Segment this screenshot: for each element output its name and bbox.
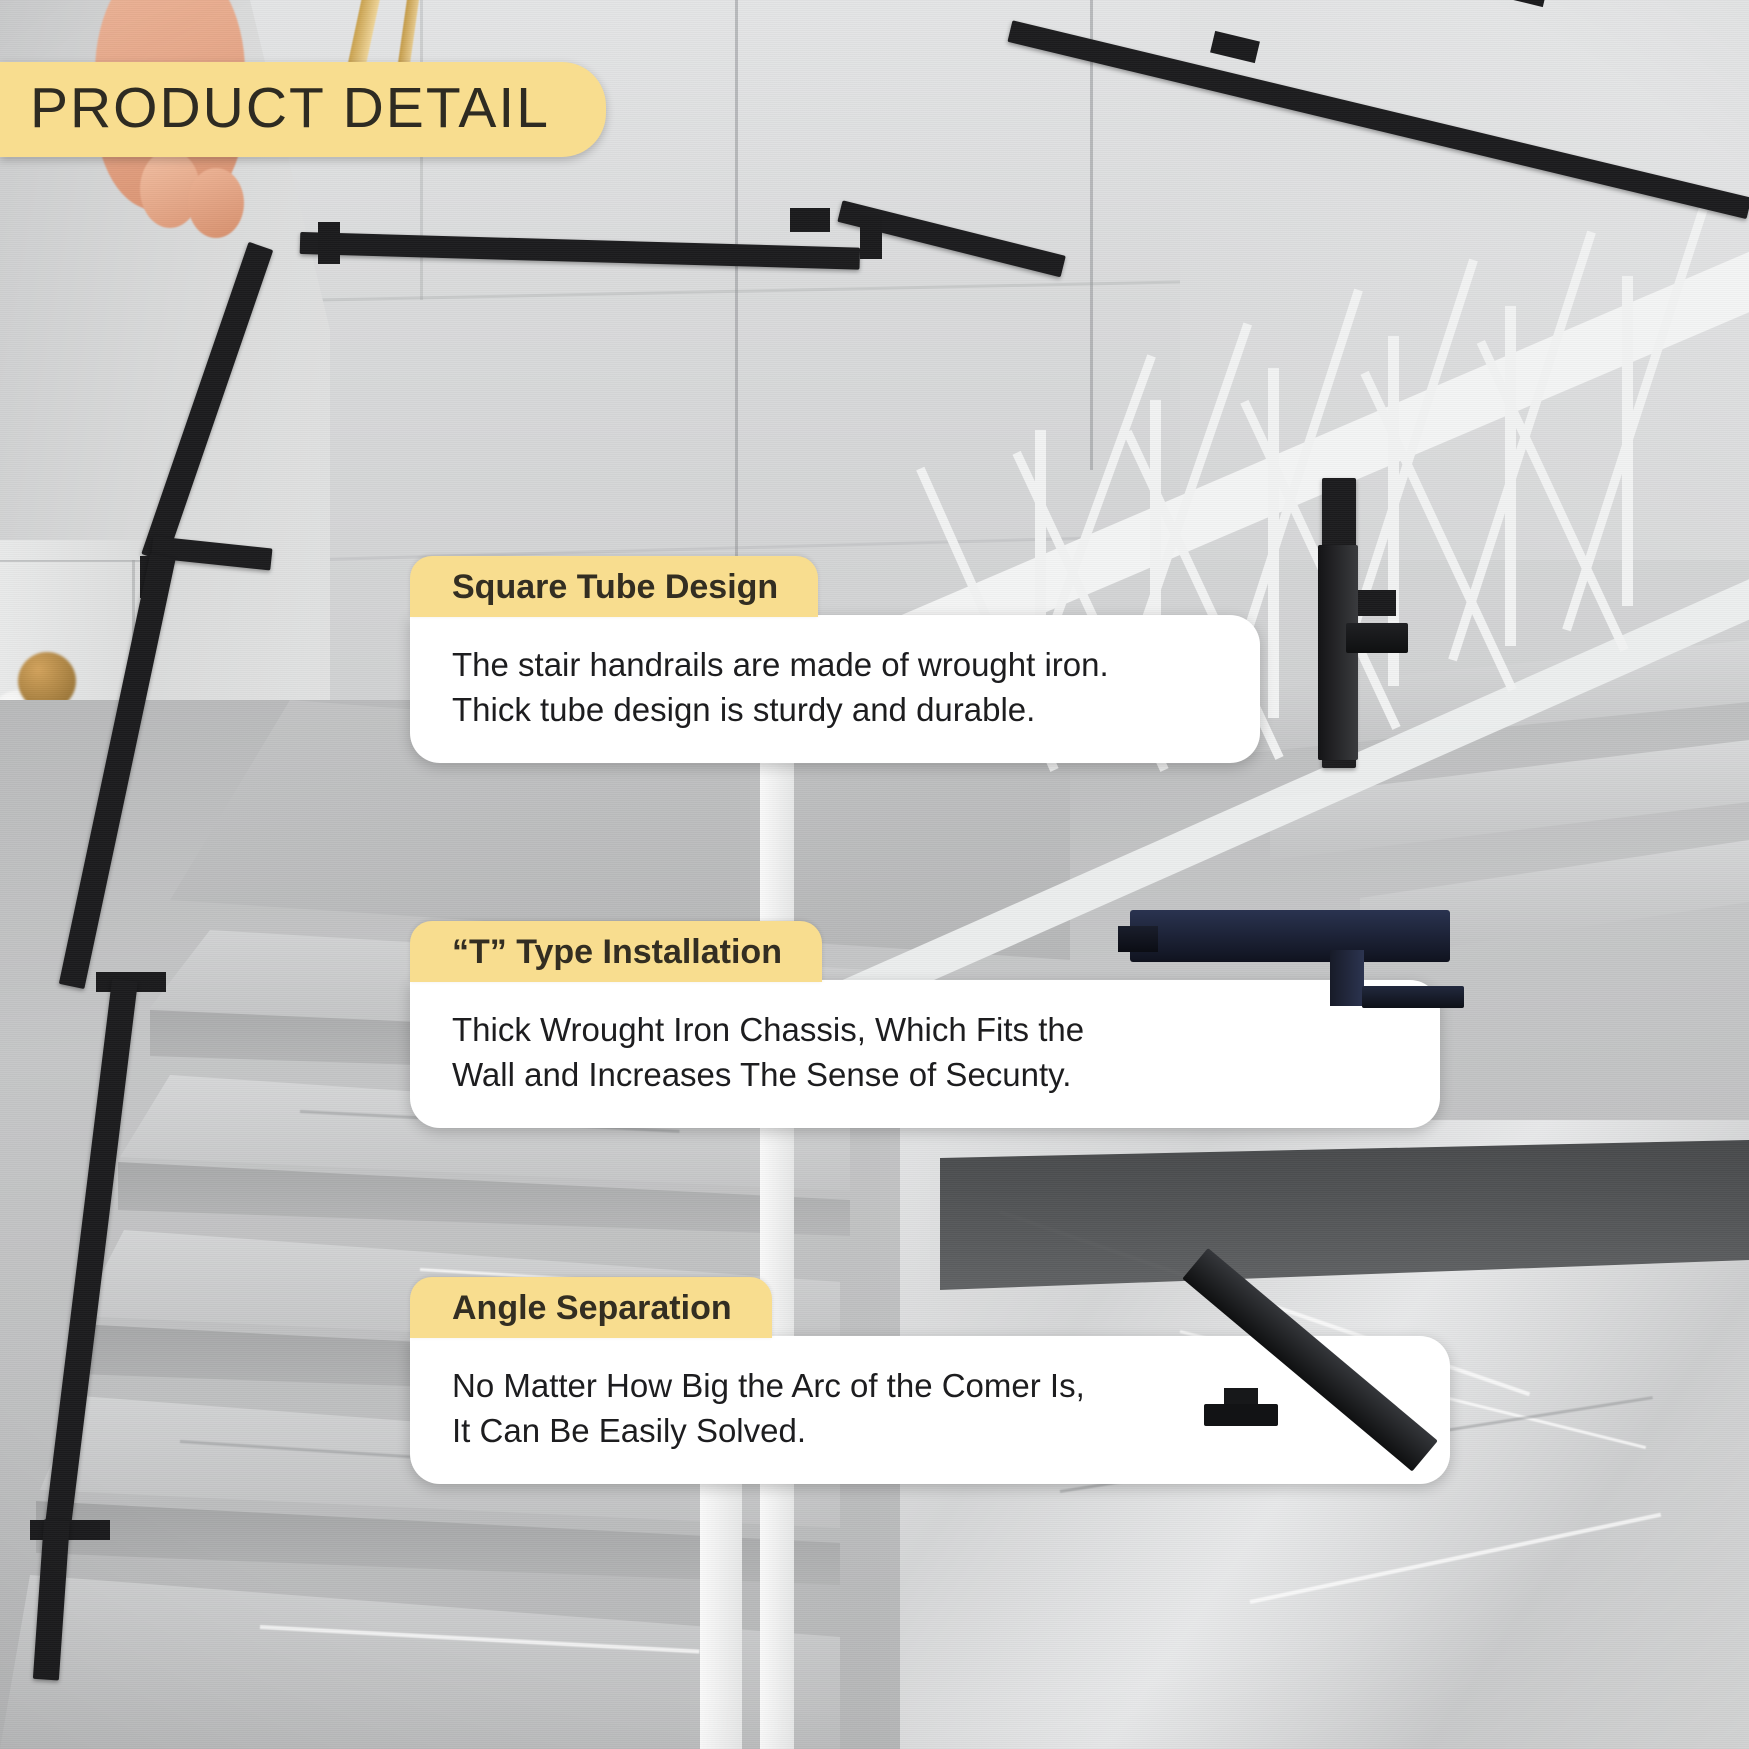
- handrail-end-cap-photo: [1258, 545, 1458, 760]
- product-detail-image: PRODUCT DETAIL Square Tube Design The st…: [0, 0, 1749, 1749]
- callout-card-square-tube-design: Square Tube Design The stair handrails a…: [410, 556, 1260, 763]
- finger: [188, 168, 244, 238]
- page-title: PRODUCT DETAIL: [30, 80, 550, 137]
- card-body-text: The stair handrails are made of wrought …: [452, 643, 1220, 733]
- page-title-badge: PRODUCT DETAIL: [0, 62, 606, 157]
- stairwell-photo: [0, 0, 1749, 1749]
- card-heading: Square Tube Design: [452, 568, 778, 607]
- card-heading: Angle Separation: [452, 1289, 732, 1328]
- card-body-text: Thick Wrought Iron Chassis, Which Fits t…: [452, 1008, 1400, 1098]
- newel-post: [760, 740, 794, 1749]
- handrail-bracket: [318, 222, 340, 264]
- card-heading-tab: Angle Separation: [410, 1277, 772, 1338]
- card-heading-tab: Square Tube Design: [410, 556, 818, 617]
- handrail-bracket: [790, 208, 830, 232]
- card-body: The stair handrails are made of wrought …: [410, 615, 1260, 763]
- angled-handrail-photo: [1198, 1228, 1498, 1463]
- handrail-bracket: [860, 215, 882, 259]
- card-heading: “T” Type Installation: [452, 933, 782, 972]
- t-bracket-photo: [1118, 890, 1463, 1020]
- card-heading-tab: “T” Type Installation: [410, 921, 822, 982]
